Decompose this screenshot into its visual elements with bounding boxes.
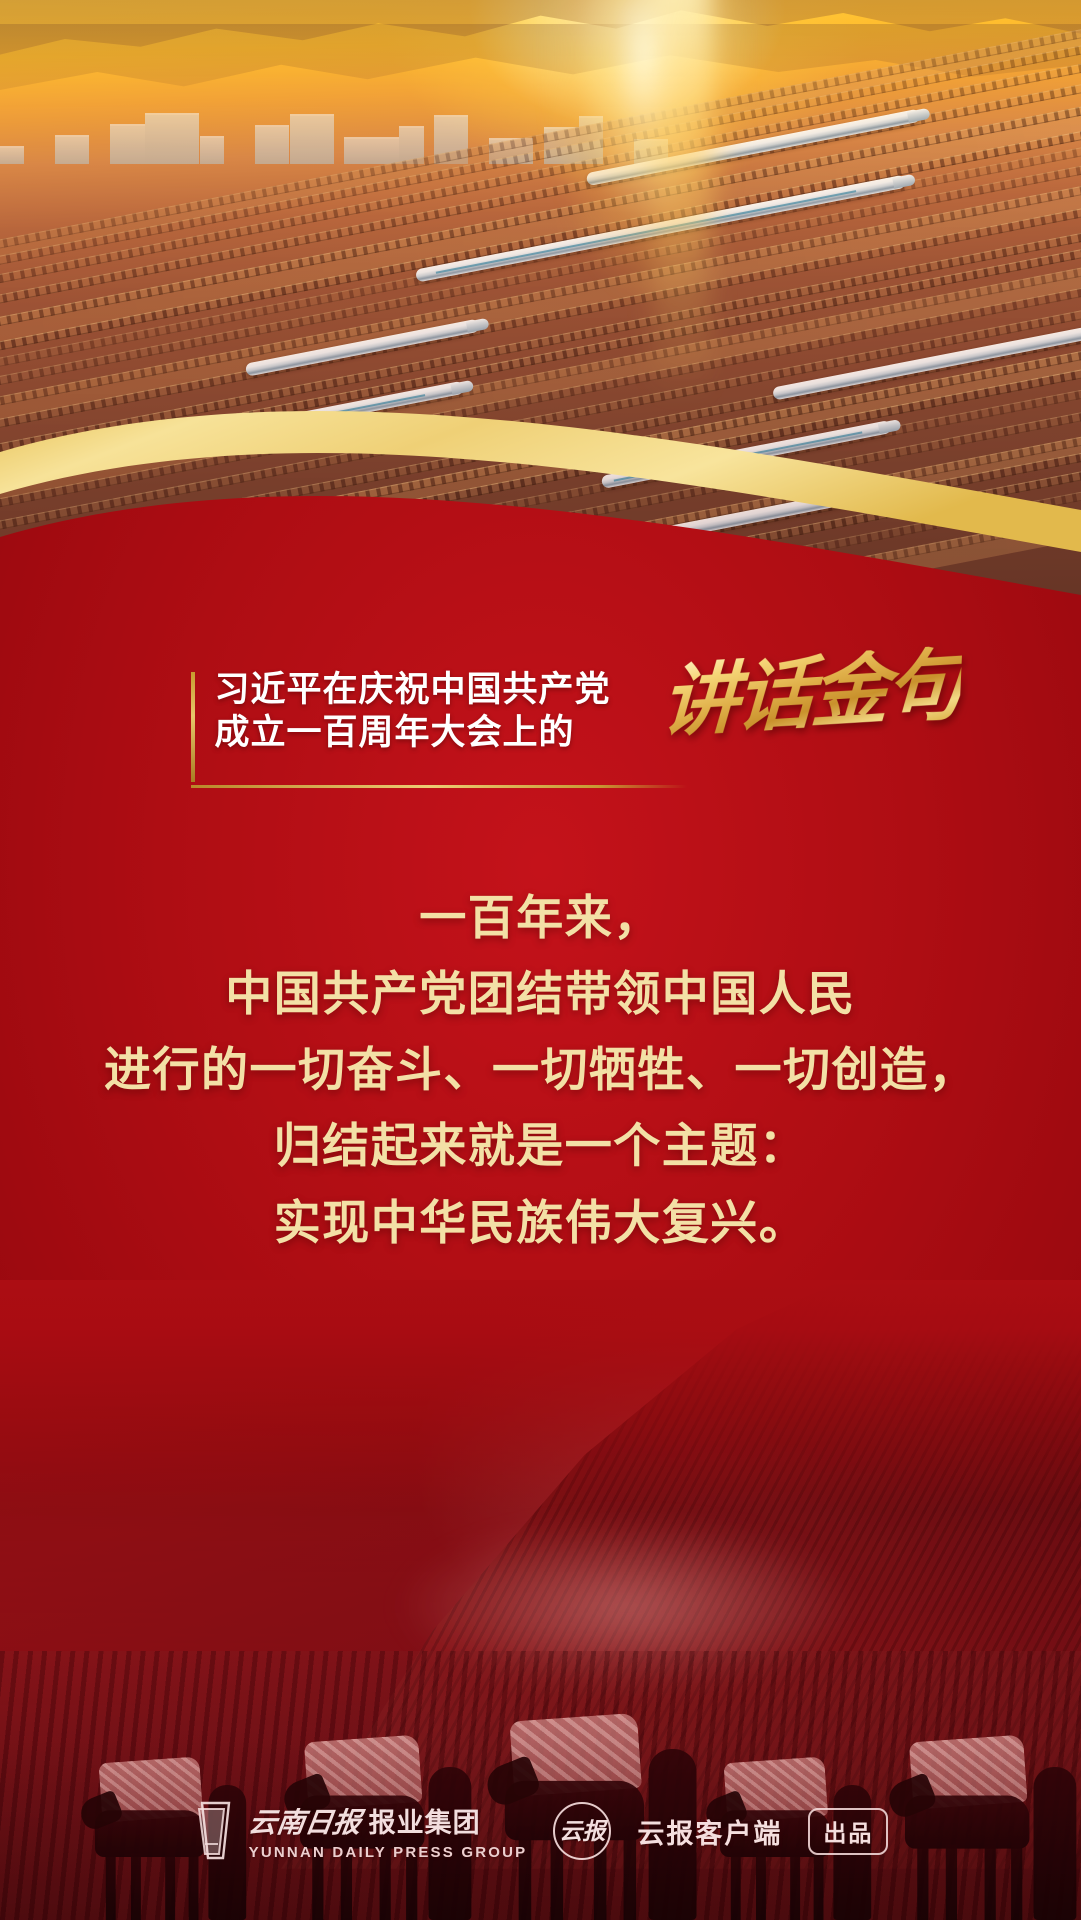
quote-block: 一百年来， 中国共产党团结带领中国人民 进行的一切奋斗、一切牺牲、一切创造， 归… (0, 880, 1081, 1261)
quote-line: 归结起来就是一个主题： (0, 1108, 1081, 1184)
publisher-logo-group[interactable]: 云南日报 报业集团 YUNNAN DAILY PRESS GROUP (193, 1800, 528, 1862)
footer-credits: 云南日报 报业集团 YUNNAN DAILY PRESS GROUP 云报 云报… (0, 1788, 1081, 1874)
headline-line-2: 成立一百周年大会上的 (215, 713, 575, 752)
quote-line: 一百年来， (0, 880, 1081, 956)
yunnan-daily-glass-icon (193, 1800, 235, 1862)
publisher-name-bold: 报业集团 (369, 1801, 481, 1840)
publisher-name-english: YUNNAN DAILY PRESS GROUP (249, 1844, 528, 1861)
top-fade-to-red (0, 1280, 1081, 1510)
produced-by-badge: 出品 (808, 1808, 888, 1855)
calligraphy-title: 讲话金句 (659, 645, 962, 742)
poster-root: 习近平在庆祝中国共产党 成立一百周年大会上的 讲话金句 一百年来， 中国共产党团… (0, 0, 1081, 1920)
headline-text: 习近平在庆祝中国共产党 成立一百周年大会上的 (215, 668, 611, 754)
quote-line: 中国共产党团结带领中国人民 (0, 956, 1081, 1032)
app-name-label[interactable]: 云报客户端 (637, 1812, 782, 1851)
gold-accent-bar (191, 672, 195, 782)
quote-line: 进行的一切奋斗、一切牺牲、一切创造， (0, 1032, 1081, 1108)
headline-line-1: 习近平在庆祝中国共产党 (215, 670, 611, 709)
headline-block: 习近平在庆祝中国共产党 成立一百周年大会上的 讲话金句 (0, 668, 1081, 798)
gold-underline (191, 785, 687, 788)
quote-line: 实现中华民族伟大复兴。 (0, 1185, 1081, 1261)
yunbao-seal-icon: 云报 (553, 1802, 611, 1860)
publisher-name-calligraphy: 云南日报 (246, 1801, 364, 1841)
